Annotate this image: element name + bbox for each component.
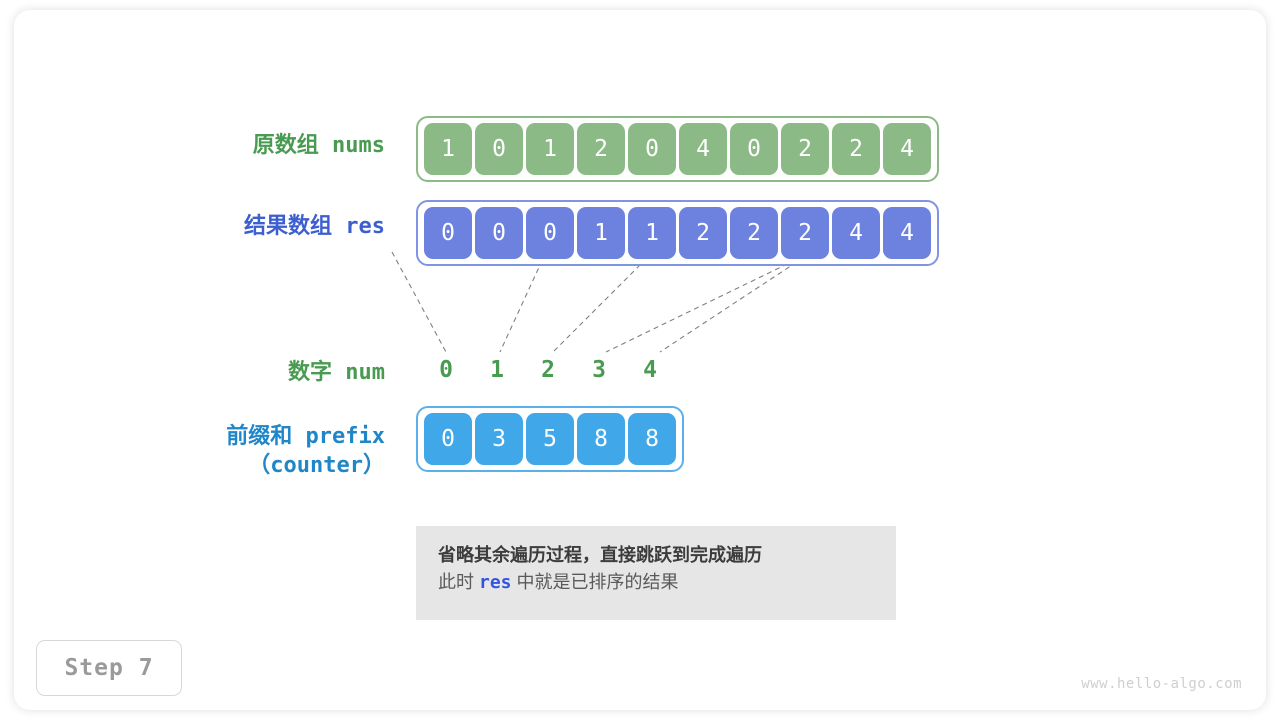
array-cell: 1	[526, 123, 574, 175]
array-cell: 0	[424, 413, 472, 465]
array-cell: 0	[730, 123, 778, 175]
connector-line-2	[553, 252, 653, 352]
note-line-2: 此时res中就是已排序的结果	[438, 569, 874, 598]
label-nums: 原数组 nums	[253, 131, 385, 160]
note-line-2-after: 中就是已排序的结果	[517, 572, 679, 593]
array-cell: 1	[577, 207, 625, 259]
num-index-item: 1	[473, 357, 521, 383]
label-num: 数字 num	[288, 358, 385, 387]
array-cell: 2	[781, 123, 829, 175]
array-cell: 2	[577, 123, 625, 175]
array-cell: 0	[424, 207, 472, 259]
array-prefix: 0 3 5 8 8	[416, 406, 684, 472]
connector-line-1	[500, 252, 546, 352]
note-code-res: res	[474, 572, 517, 593]
array-cell: 0	[628, 123, 676, 175]
connector-line-3	[606, 252, 812, 352]
note-line-1: 省略其余遍历过程，直接跳跃到完成遍历	[438, 542, 874, 569]
array-cell: 4	[883, 123, 931, 175]
label-prefix-line2: （counter）	[226, 451, 385, 480]
array-cell: 3	[475, 413, 523, 465]
watermark: www.hello-algo.com	[1081, 676, 1242, 692]
array-cell: 0	[475, 207, 523, 259]
diagram-canvas: 原数组 nums 结果数组 res 数字 num 前缀和 prefix （cou…	[0, 0, 1280, 720]
label-prefix-line1: 前缀和 prefix	[226, 422, 385, 451]
array-cell: 1	[628, 207, 676, 259]
array-res: 0 0 0 1 1 2 2 2 4 4	[416, 200, 939, 266]
array-cell: 1	[424, 123, 472, 175]
array-cell: 4	[883, 207, 931, 259]
array-cell: 8	[628, 413, 676, 465]
array-cell: 2	[679, 207, 727, 259]
connector-line-4	[660, 252, 812, 352]
array-cell: 2	[730, 207, 778, 259]
connector-line-0	[392, 252, 446, 352]
array-cell: 4	[679, 123, 727, 175]
array-cell: 2	[832, 123, 880, 175]
array-cell: 5	[526, 413, 574, 465]
diagram-content: 原数组 nums 结果数组 res 数字 num 前缀和 prefix （cou…	[0, 0, 1280, 720]
step-badge: Step 7	[36, 640, 182, 696]
num-index-item: 0	[422, 357, 470, 383]
array-cell: 8	[577, 413, 625, 465]
array-cell: 0	[475, 123, 523, 175]
label-res: 结果数组 res	[244, 212, 385, 241]
num-index-item: 2	[524, 357, 572, 383]
num-index-row: 0 1 2 3 4	[416, 357, 680, 383]
array-cell: 4	[832, 207, 880, 259]
num-index-item: 3	[575, 357, 623, 383]
array-cell: 0	[526, 207, 574, 259]
num-index-item: 4	[626, 357, 674, 383]
label-prefix: 前缀和 prefix （counter）	[226, 422, 385, 480]
array-cell: 2	[781, 207, 829, 259]
array-nums: 1 0 1 2 0 4 0 2 2 4	[416, 116, 939, 182]
note-box: 省略其余遍历过程，直接跳跃到完成遍历 此时res中就是已排序的结果	[416, 526, 896, 620]
note-line-2-before: 此时	[438, 572, 474, 593]
